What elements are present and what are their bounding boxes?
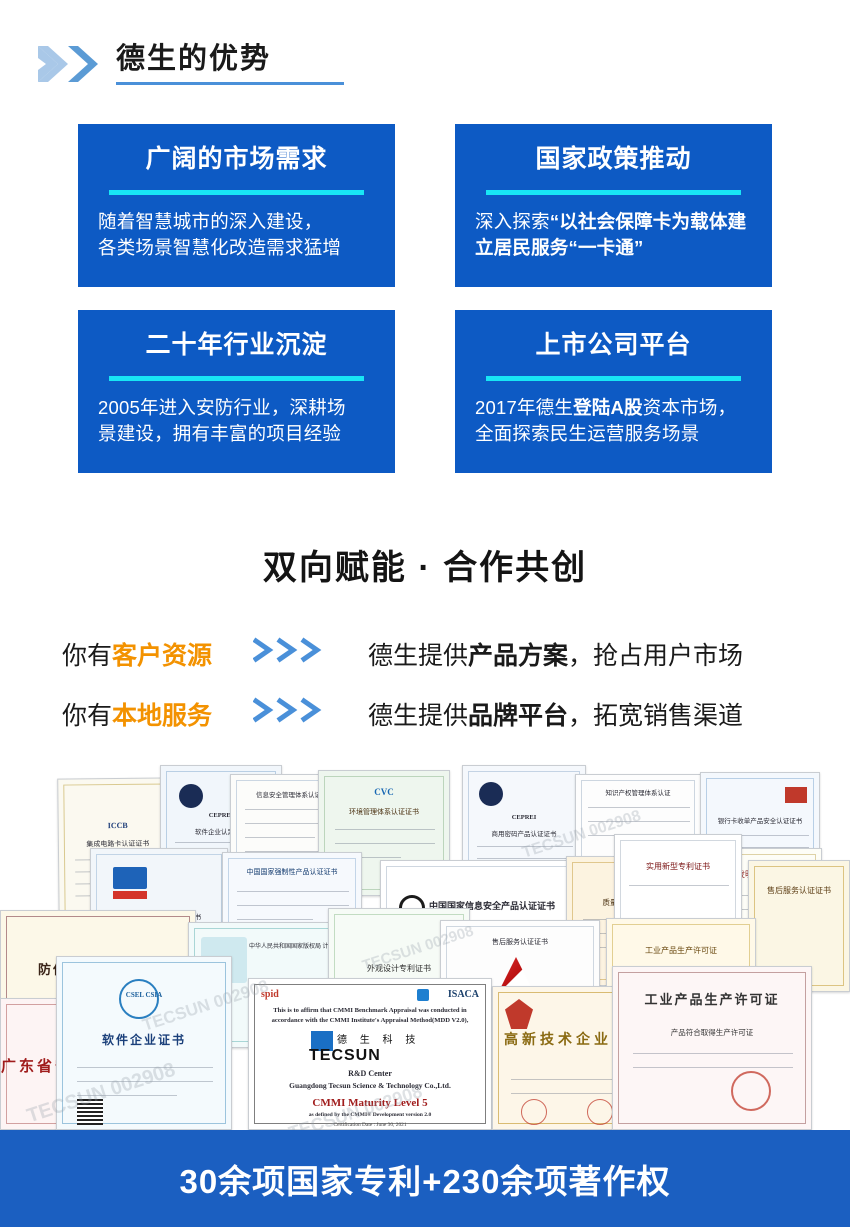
cmmi-cert-date: Certification Date : June 30, 2021 — [249, 1122, 491, 1128]
certificate-label: 售后服务认证证书 — [441, 937, 599, 947]
row-left-highlight: 本地服务 — [112, 702, 212, 730]
advantage-card-grid: 广阔的市场需求 随着智慧城市的深入建设， 各类场景智慧化改造需求猛增 国家政策推… — [0, 124, 850, 474]
cmmi-legal-name: Guangdong Tecsun Science & Technology Co… — [249, 1081, 491, 1090]
empowerment-row-left: 你有本地服务 — [62, 696, 212, 732]
card-divider — [486, 376, 741, 381]
cmmi-level: CMMI Maturity Level 5 — [249, 1097, 491, 1109]
empowerment-row-left: 你有客户资源 — [62, 636, 212, 672]
header-underline — [116, 82, 344, 85]
card-divider — [109, 376, 364, 381]
certificate-collage: ICCB 集成电路卡认证证书 CEPREI 软件企业认定证书 信息安全管理体系认… — [0, 760, 850, 1130]
cmmi-unit: R&D Center — [249, 1069, 491, 1078]
card-body: 2005年进入安防行业，深耕场 景建设，拥有丰富的项目经验 — [98, 395, 375, 448]
card-body: 2017年德生登陆A股资本市场，全面探索民生运营服务场景 — [475, 395, 752, 448]
certificate-item: CSEL CSIA 软件企业证书 — [56, 956, 232, 1130]
advantage-card-listed-company: 上市公司平台 2017年德生登陆A股资本市场，全面探索民生运营服务场景 — [455, 310, 772, 473]
certificate-label: 知识产权管理体系认证 — [576, 787, 700, 797]
mid-section-title: 双向赋能 · 合作共创 — [0, 540, 850, 589]
certificate-cmmi: spid ISACA This is to affirm that CMMI B… — [248, 978, 492, 1130]
card-body-lead: 深入探索 — [475, 211, 550, 232]
card-body-line: 景建设，拥有丰富的项目经验 — [98, 421, 375, 447]
banner-text: 30余项国家专利+230余项著作权 — [179, 1155, 670, 1203]
certificate-label: 环境管理体系认证证书 — [319, 807, 449, 817]
card-body-bold: 登陆A股 — [573, 397, 643, 418]
certificate-label: 银行卡收单产品安全认证证书 — [701, 815, 819, 825]
section-header: 德生的优势 — [0, 32, 850, 102]
card-body-line: 2005年进入安防行业，深耕场 — [98, 395, 375, 421]
card-body: 随着智慧城市的深入建设， 各类场景智慧化改造需求猛增 — [98, 209, 375, 262]
cmmi-company-cn: 德 生 科 技 — [337, 1031, 491, 1046]
chevron-right-icon-light — [36, 44, 70, 84]
certificate-label: 软件企业证书 — [57, 1031, 231, 1048]
certificate-label: 实用新型专利证书 — [615, 861, 741, 872]
advantage-card-industry-experience: 二十年行业沉淀 2005年进入安防行业，深耕场 景建设，拥有丰富的项目经验 — [78, 310, 395, 473]
certificate-mark: CVC — [319, 787, 449, 797]
cmmi-defined-by: as defined by the CMMI® Development vers… — [249, 1112, 491, 1118]
empowerment-row: 你有本地服务 德生提供品牌平台，拓宽销售渠道 — [0, 688, 850, 740]
row-left-prefix: 你有 — [62, 702, 112, 730]
card-divider — [486, 190, 741, 195]
certificate-mark: CSEL CSIA — [57, 991, 231, 999]
empowerment-row: 你有客户资源 德生提供产品方案，抢占用户市场 — [0, 628, 850, 680]
card-title: 广阔的市场需求 — [78, 146, 395, 174]
certificate-label: 商用密码产品认证证书 — [463, 828, 585, 838]
certificate-mark: CEPREI — [463, 814, 585, 821]
card-title: 上市公司平台 — [455, 332, 772, 360]
triple-chevron-icon — [253, 697, 329, 723]
empowerment-row-right: 德生提供产品方案，抢占用户市场 — [368, 636, 743, 672]
advantage-card-national-policy: 国家政策推动 深入探索“以社会保障卡为载体建立居民服务“一卡通” — [455, 124, 772, 287]
empowerment-rows: 你有客户资源 德生提供产品方案，抢占用户市场 你有本地服务 德生提供品牌平台，拓… — [0, 628, 850, 740]
certificate-item: 工业产品生产许可证 产品符合取得生产许可证 — [612, 966, 812, 1130]
card-body-lead: 2017年德生 — [475, 397, 573, 418]
double-chevron-icon — [36, 44, 114, 84]
card-body-line: 随着智慧城市的深入建设， — [98, 209, 375, 235]
cmmi-statement-line-1: This is to affirm that CMMI Benchmark Ap… — [249, 1007, 491, 1014]
row-right-bold: 品牌平台 — [468, 702, 568, 730]
empowerment-row-right: 德生提供品牌平台，拓宽销售渠道 — [368, 696, 743, 732]
isaca-logo: ISACA — [448, 989, 479, 1000]
row-right-suffix: ，抢占用户市场 — [568, 642, 743, 670]
card-body: 深入探索“以社会保障卡为载体建立居民服务“一卡通” — [475, 209, 752, 262]
bottom-banner: 30余项国家专利+230余项著作权 — [0, 1130, 850, 1227]
row-right-suffix: ，拓宽销售渠道 — [568, 702, 743, 730]
row-right-bold: 产品方案 — [468, 642, 568, 670]
card-divider — [109, 190, 364, 195]
card-title: 国家政策推动 — [455, 146, 772, 174]
row-left-highlight: 客户资源 — [112, 642, 212, 670]
cmmi-statement-line-2: accordance with the CMMI Institute's App… — [249, 1017, 491, 1024]
advantage-card-market-demand: 广阔的市场需求 随着智慧城市的深入建设， 各类场景智慧化改造需求猛增 — [78, 124, 395, 287]
certificate-label: 工业产品生产许可证 — [613, 989, 811, 1008]
row-right-prefix: 德生提供 — [368, 702, 468, 730]
certificate-label: 工业产品生产许可证 — [607, 945, 755, 956]
row-left-prefix: 你有 — [62, 642, 112, 670]
certificate-item: 实用新型专利证书 — [614, 834, 742, 930]
row-right-prefix: 德生提供 — [368, 642, 468, 670]
card-body-line: 各类场景智慧化改造需求猛增 — [98, 235, 375, 261]
certificate-label: 中国国家强制性产品认证证书 — [223, 867, 361, 877]
triple-chevron-icon — [253, 637, 329, 663]
page-root: 德生的优势 广阔的市场需求 随着智慧城市的深入建设， 各类场景智慧化改造需求猛增… — [0, 0, 850, 1227]
page-title: 德生的优势 — [116, 35, 271, 77]
certificate-label: 产品符合取得生产许可证 — [613, 1027, 811, 1038]
certificate-label: 售后服务认证证书 — [749, 885, 849, 896]
card-title: 二十年行业沉淀 — [78, 332, 395, 360]
chevron-right-icon-dark — [66, 44, 100, 84]
cmmi-company-en: TECSUN — [309, 1047, 491, 1065]
